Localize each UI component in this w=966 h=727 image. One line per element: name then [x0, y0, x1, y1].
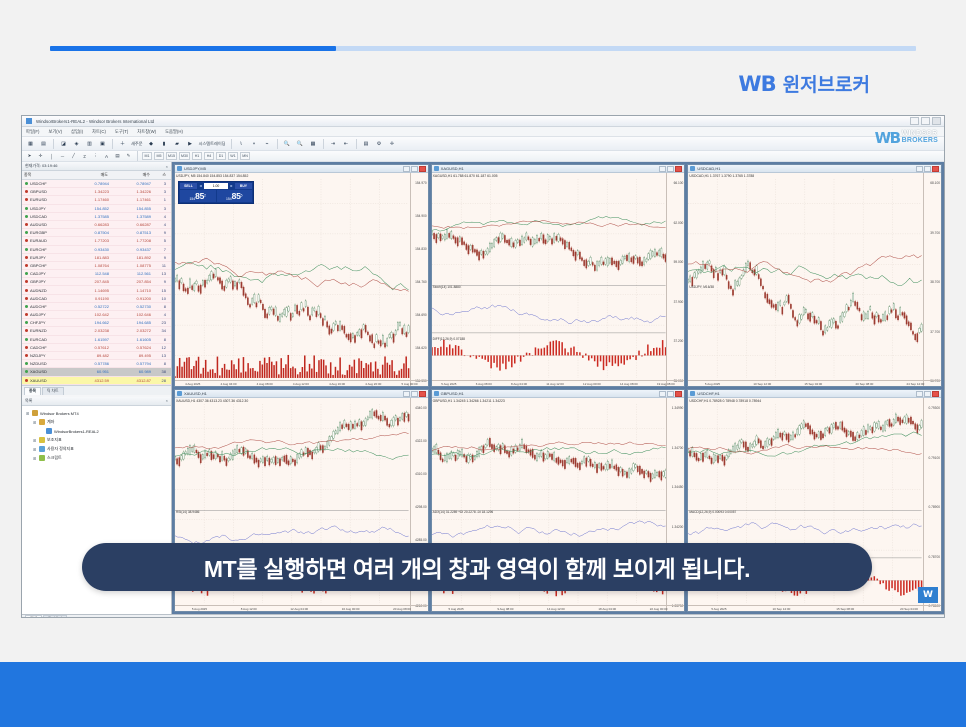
chart-canvas[interactable]: USDJPY, M5 154.840 154.853 154.837 154.8…: [175, 173, 428, 386]
market-watch-title: 현재가격: 03:19:46: [25, 163, 58, 169]
navigator-item[interactable]: ⊞스크립트: [26, 454, 171, 463]
chart-maximize-button[interactable]: [924, 166, 931, 172]
mt4-drawing-toolbar: ➤ ✛ │ ─ ╱ ≠ ⋮ A ▤ ✎ M1 M5 M15 M30 H1 H4 …: [22, 151, 944, 162]
row-spread: 13: [154, 271, 168, 276]
time-tick: 4 Aug 12:00: [293, 382, 309, 386]
sell-price[interactable]: 154852: [180, 190, 216, 202]
indicator-label: Stoch(14) 101.8880: [433, 285, 461, 289]
time-axis: 4 Aug 20254 Aug 04:004 Aug 08:004 Aug 12…: [175, 380, 428, 386]
chart-minimize-button[interactable]: [659, 391, 666, 397]
time-tick: 4 Aug 20:00: [365, 382, 381, 386]
toolbar-separator: [277, 139, 278, 149]
node-icon: [32, 410, 38, 416]
row-ask: 2.03272: [112, 328, 154, 333]
row-ask: 1.37589: [112, 214, 154, 219]
close-button[interactable]: [932, 117, 941, 125]
arrow-icon[interactable]: ✎: [124, 152, 133, 161]
price-axis: 154.970154.900154.830154.760154.690154.6…: [410, 173, 428, 386]
market-watch-row[interactable]: AUDCHF0.527220.527308: [22, 303, 171, 311]
column-ask[interactable]: 매수: [110, 172, 152, 178]
direction-icon: [25, 231, 28, 234]
grid-icon[interactable]: ▦: [308, 138, 319, 149]
chart-title-bar: USDCHF,H1: [688, 390, 941, 398]
market-watch-row[interactable]: CADJPY112.548112.56113: [22, 270, 171, 278]
time-tick: 16 Aug 00:00: [342, 607, 360, 611]
expander-icon[interactable]: ⊞: [26, 411, 30, 416]
row-spread: 1: [154, 197, 168, 202]
row-bid: 102.642: [70, 312, 112, 317]
time-tick: 20 Sep 08:00: [855, 382, 873, 386]
fibonacci-icon[interactable]: ⋮: [91, 152, 100, 161]
market-watch-row[interactable]: AUDUSD0.662830.662874: [22, 221, 171, 229]
time-tick: 6 Aug 08:00: [476, 382, 492, 386]
row-symbol: GBPJPY: [30, 279, 70, 284]
row-symbol: EURUSD: [30, 197, 70, 202]
lot-increase-icon[interactable]: ►: [229, 184, 234, 188]
menu-insert[interactable]: 삽입(I): [71, 129, 83, 135]
row-ask: 4312.87: [112, 378, 154, 383]
sell-button[interactable]: SELL: [180, 183, 197, 189]
market-watch-row[interactable]: CADCHF0.576120.5762412: [22, 344, 171, 352]
navigator-item[interactable]: WindsorBrokers1-REAL2: [26, 427, 171, 436]
chart-title: XAUUSD,H1: [184, 391, 207, 396]
market-watch-row[interactable]: EURCAD1.615971.616058: [22, 336, 171, 344]
minimize-button[interactable]: [910, 117, 919, 125]
menu-charts[interactable]: 차트(C): [92, 129, 106, 135]
row-spread: 10: [154, 296, 168, 301]
timeframe-h4[interactable]: H4: [204, 152, 214, 160]
row-bid: 60.951: [70, 369, 112, 374]
profiles-icon[interactable]: ▤: [38, 138, 49, 149]
market-watch-row[interactable]: AUDJPY102.642102.6464: [22, 311, 171, 319]
expander-icon[interactable]: ⊞: [33, 438, 37, 443]
row-symbol: AUDNZD: [30, 288, 70, 293]
chart-maximize-button[interactable]: [667, 391, 674, 397]
chart-close-button[interactable]: [419, 391, 426, 397]
indicators-icon[interactable]: ▮: [159, 138, 170, 149]
direction-icon: [25, 198, 28, 201]
timeframe-h1[interactable]: H1: [192, 152, 202, 160]
auto-scroll-icon[interactable]: ⇤: [341, 138, 352, 149]
row-symbol: EURAUD: [30, 238, 70, 243]
timeframe-m1[interactable]: M1: [142, 152, 152, 160]
zoom-out-icon[interactable]: 🔍: [295, 138, 306, 149]
time-axis: 5 Aug 202510 Sep 12:0015 Sep 04:0020 Sep…: [688, 380, 941, 386]
direction-icon: [25, 329, 28, 332]
direction-icon: [25, 239, 28, 242]
tab-tick-chart[interactable]: 틱 차트: [42, 387, 64, 395]
row-spread: 15: [154, 288, 168, 293]
row-symbol: EURNZD: [30, 328, 70, 333]
time-tick: 8 Aug 04:00: [511, 382, 527, 386]
row-ask: 0.78947: [112, 181, 154, 186]
new-order-icon[interactable]: ＋: [117, 138, 128, 149]
market-watch-icon[interactable]: ◪: [58, 138, 69, 149]
one-click-trading-panel[interactable]: SELL◄1.00►BUY154852154855: [178, 181, 254, 204]
navigator-item[interactable]: ⊞Windsor Brokers MT4: [26, 409, 171, 418]
price-axis: 68.10039.70038.70037.70036.700: [923, 173, 941, 386]
row-symbol: CADCHF: [30, 345, 70, 350]
time-tick: 15 Sep 08:00: [836, 607, 854, 611]
market-watch-row[interactable]: EURNZD2.032382.0327234: [22, 327, 171, 335]
price-tick: 154.690: [415, 313, 427, 317]
timeframe-m30[interactable]: M30: [179, 152, 190, 160]
row-ask: 1.08775: [112, 263, 154, 268]
market-watch-list[interactable]: USDCHF0.789440.789473GBPUSD1.342231.3422…: [22, 180, 171, 385]
expander-icon[interactable]: ⊞: [33, 456, 37, 461]
row-spread: 5: [154, 238, 168, 243]
toolbar-separator: [323, 139, 324, 149]
label-icon[interactable]: ▤: [113, 152, 122, 161]
lot-size-input[interactable]: 1.00: [204, 183, 228, 189]
row-symbol: AUDJPY: [30, 312, 70, 317]
time-tick: 4 Aug 16:00: [329, 382, 345, 386]
row-bid: 207.845: [70, 279, 112, 284]
row-bid: 1.08764: [70, 263, 112, 268]
row-spread: 38: [154, 369, 168, 374]
timeframe-w1[interactable]: W1: [228, 152, 238, 160]
row-spread: 34: [154, 328, 168, 333]
menu-window[interactable]: 차트창(W): [137, 129, 156, 135]
row-bid: 0.78944: [70, 181, 112, 186]
chart-minimize-button[interactable]: [916, 166, 923, 172]
vertical-line-icon[interactable]: │: [47, 152, 56, 161]
price-tick: 1.34700: [672, 446, 684, 450]
row-symbol: CHFJPY: [30, 320, 70, 325]
templates-icon[interactable]: ▤: [361, 138, 372, 149]
chart-icon: [690, 166, 695, 171]
row-bid: 0.66283: [70, 222, 112, 227]
time-tick: 5 Aug 2025: [705, 382, 720, 386]
indicator-label: MACD(12,26,9) 0.00093 0.00057: [689, 510, 736, 514]
direction-icon: [25, 182, 28, 185]
chart-title-bar: USDJPY,M5: [175, 165, 428, 173]
chart-title-bar: XAGUSD,H1: [432, 165, 685, 173]
navigator-item-label: 계좌: [47, 419, 54, 425]
time-tick: 12 Aug 04:00: [290, 607, 308, 611]
price-tick: 1.34200: [672, 525, 684, 529]
time-axis: 5 Aug 20259 Aug 08:0014 Aug 12:0018 Aug …: [432, 605, 685, 611]
row-bid: 1.61597: [70, 337, 112, 342]
window-controls: [910, 117, 941, 125]
chart-minimize-button[interactable]: [916, 391, 923, 397]
row-bid: 0.93430: [70, 247, 112, 252]
slide-progress-track: [50, 46, 916, 51]
timeframe-d1[interactable]: D1: [216, 152, 226, 160]
menu-help[interactable]: 도움말(H): [165, 129, 183, 135]
row-ask: 1.61605: [112, 337, 154, 342]
chart-close-button[interactable]: [675, 166, 682, 172]
row-ask: 0.93437: [112, 247, 154, 252]
chart-maximize-button[interactable]: [667, 166, 674, 172]
line-chart-icon[interactable]: ⌁: [262, 138, 273, 149]
menu-file[interactable]: 파일(F): [26, 129, 39, 135]
chart-canvas[interactable]: USDCAD,H1 1.3767 1.3790 1.3765 1.378868.…: [688, 173, 941, 386]
row-spread: 28: [154, 378, 168, 383]
chart-maximize-button[interactable]: [924, 391, 931, 397]
row-symbol: AUDCAD: [30, 296, 70, 301]
row-ask: 0.66287: [112, 222, 154, 227]
candlestick-icon[interactable]: ⑂: [249, 138, 260, 149]
new-chart-icon[interactable]: ▦: [25, 138, 36, 149]
crosshair-icon[interactable]: ✛: [36, 152, 45, 161]
chart-icon: [434, 391, 439, 396]
chart-minimize-button[interactable]: [403, 166, 410, 172]
mt4-main-toolbar: ▦ ▤ ◪ ◈ ▥ ▣ ＋ 새주문 ◆ ▮ ▰ ▶ 시스템트레이딩 ⑊ ⑂ ⌁ …: [22, 137, 944, 151]
horizontal-line-icon[interactable]: ─: [58, 152, 67, 161]
channel-icon[interactable]: ≠: [80, 152, 89, 161]
row-spread: 4: [154, 214, 168, 219]
row-symbol: USDCHF: [30, 181, 70, 186]
row-bid: 0.91190: [70, 296, 112, 301]
new-order-label[interactable]: 새주문: [130, 141, 144, 147]
row-symbol: USDJPY: [30, 206, 70, 211]
chart-close-button[interactable]: [419, 166, 426, 172]
price-tick: 4310.00: [415, 472, 427, 476]
market-watch-row[interactable]: AUDNZD1.146951.1471015: [22, 286, 171, 294]
indicator-label: DIFF(12,26,9) 0.07188: [433, 337, 465, 341]
menu-view[interactable]: 보기(V): [48, 129, 62, 135]
autotrading-label[interactable]: 시스템트레이딩: [198, 141, 227, 147]
market-watch-row[interactable]: CHFJPY194.662194.68523: [22, 319, 171, 327]
windsor-brokers-watermark: WB WINDSOR BROKERS: [875, 129, 938, 147]
expander-icon[interactable]: ⊞: [33, 420, 37, 425]
row-spread: 12: [154, 345, 168, 350]
timeframe-mn[interactable]: MN: [240, 152, 250, 160]
direction-icon: [25, 354, 28, 357]
price-axis: 66.10062.00059.00037.90037.20035.000: [666, 173, 684, 386]
column-symbol[interactable]: 종목: [22, 172, 68, 178]
row-bid: 1.77203: [70, 238, 112, 243]
expert-advisor-icon[interactable]: ◆: [146, 138, 157, 149]
market-watch-row[interactable]: GBPCHF1.087641.0877511: [22, 262, 171, 270]
node-icon: [39, 446, 45, 452]
chart-title-bar: XAUUSD,H1: [175, 390, 428, 398]
market-watch-row[interactable]: USDJPY154.852154.8553: [22, 205, 171, 213]
direction-icon: [25, 346, 28, 349]
row-bid: 0.52722: [70, 304, 112, 309]
price-tick: 4298.00: [415, 505, 427, 509]
market-watch-row[interactable]: AUDCAD0.911900.9120010: [22, 295, 171, 303]
time-tick: 20 Aug 08:00: [393, 607, 411, 611]
properties-icon[interactable]: ⚙: [374, 138, 385, 149]
chart-title: USDJPY,M5: [184, 166, 206, 171]
navigator-item-label: 스크립트: [47, 455, 62, 461]
timeframe-m5[interactable]: M5: [154, 152, 164, 160]
direction-icon: [25, 280, 28, 283]
chart-title: GBPUSD,H1: [441, 391, 464, 396]
row-bid: 0.57612: [70, 345, 112, 350]
chart-close-button[interactable]: [932, 166, 939, 172]
direction-icon: [25, 338, 28, 341]
direction-icon: [25, 297, 28, 300]
maximize-button[interactable]: [921, 117, 930, 125]
zoom-in-icon[interactable]: 🔍: [282, 138, 293, 149]
row-ask: 154.855: [112, 206, 154, 211]
price-tick: 39.700: [930, 231, 940, 235]
time-tick: 24 Sep 12:00: [907, 382, 925, 386]
market-watch-row[interactable]: USDCAD1.375851.375894: [22, 213, 171, 221]
time-tick: 4 Aug 2025: [185, 382, 200, 386]
terminal-icon[interactable]: ▣: [97, 138, 108, 149]
navigator-item[interactable]: ⊞사용자 정의지표: [26, 445, 171, 454]
market-watch-row[interactable]: XAUUSD4312.594312.8728: [22, 377, 171, 385]
row-ask: 0.87513: [112, 230, 154, 235]
cursor-icon[interactable]: ➤: [25, 152, 34, 161]
market-watch-row[interactable]: EURCHF0.934300.934377: [22, 246, 171, 254]
row-spread: 4: [154, 222, 168, 227]
row-bid: 112.548: [70, 271, 112, 276]
market-watch-row[interactable]: USDCHF0.789440.789473: [22, 180, 171, 188]
chart-close-button[interactable]: [675, 391, 682, 397]
price-tick: 37.200: [674, 339, 684, 343]
row-bid: 0.57786: [70, 361, 112, 366]
row-spread: 3: [154, 189, 168, 194]
expander-icon[interactable]: ⊞: [33, 447, 37, 452]
time-tick: 12 Aug 00:00: [583, 382, 601, 386]
direction-icon: [25, 289, 28, 292]
row-spread: 8: [154, 304, 168, 309]
strategy-tester-icon[interactable]: ▰: [172, 138, 183, 149]
market-watch-row[interactable]: EURGBP0.875040.875139: [22, 229, 171, 237]
time-tick: 5 Aug 2025: [441, 382, 456, 386]
node-icon: [46, 428, 52, 434]
direction-icon: [25, 248, 28, 251]
navigator-icon[interactable]: ▥: [84, 138, 95, 149]
market-watch-row[interactable]: NZDUSD0.577860.577948: [22, 360, 171, 368]
chart-window[interactable]: XAGUSD,H1XAGUSD,H1 61.788 61.870 61.187 …: [431, 164, 686, 387]
direction-icon: [25, 313, 28, 316]
caption-banner: MT를 실행하면 여러 개의 창과 영역이 함께 보이게 됩니다.: [82, 543, 872, 591]
chart-close-button[interactable]: [932, 391, 939, 397]
chart-window[interactable]: USDCAD,H1USDCAD,H1 1.3767 1.3790 1.3765 …: [687, 164, 942, 387]
buy-button[interactable]: BUY: [235, 183, 252, 189]
market-watch-row[interactable]: GBPJPY207.845207.8549: [22, 278, 171, 286]
tab-symbols[interactable]: 종목: [24, 387, 41, 395]
market-watch-row[interactable]: GBPUSD1.342231.342263: [22, 188, 171, 196]
chart-minimize-button[interactable]: [403, 391, 410, 397]
price-tick: 38.700: [930, 280, 940, 284]
crosshair-icon[interactable]: ✛: [387, 138, 398, 149]
chart-window[interactable]: USDJPY,M5USDJPY, M5 154.840 154.853 154.…: [174, 164, 429, 387]
close-icon[interactable]: ×: [166, 398, 168, 403]
tab-list[interactable]: 열거하기: [43, 615, 67, 618]
row-symbol: XAGUSD: [30, 369, 70, 374]
toolbar-separator: [356, 139, 357, 149]
indicator-label: RSI(14) 38.9486: [176, 510, 199, 514]
row-symbol: GBPCHF: [30, 263, 70, 268]
price-tick: 1.34450: [672, 485, 684, 489]
price-tick: 37.700: [930, 330, 940, 334]
row-symbol: NZDUSD: [30, 361, 70, 366]
trend-line-icon[interactable]: ╱: [69, 152, 78, 161]
market-watch-row[interactable]: EURJPY181.883181.8929: [22, 254, 171, 262]
row-ask: 1.34226: [112, 189, 154, 194]
market-watch-row[interactable]: XAGUSD60.95160.98938: [22, 368, 171, 376]
time-axis: 5 Aug 20256 Aug 08:008 Aug 04:0011 Aug 1…: [432, 380, 685, 386]
navigator-title: 목록: [25, 398, 32, 404]
row-symbol: EURGBP: [30, 230, 70, 235]
column-bid[interactable]: 매도: [68, 172, 110, 178]
row-ask: 89.495: [112, 353, 154, 358]
chart-shift-icon[interactable]: ⇥: [328, 138, 339, 149]
time-tick: 4 Aug 08:00: [257, 382, 273, 386]
price-tick: 1.34990: [672, 406, 684, 410]
column-spread[interactable]: 스: [152, 172, 168, 178]
bar-chart-icon[interactable]: ⑊: [236, 138, 247, 149]
chart-icon: [690, 391, 695, 396]
price-tick: 68.100: [930, 181, 940, 185]
tab-general[interactable]: 일반: [25, 615, 42, 618]
autotrading-icon[interactable]: ▶: [185, 138, 196, 149]
toolbar-separator: [231, 139, 232, 149]
chart-title: USDCHF,H1: [697, 391, 719, 396]
price-tick: 0.79100: [928, 456, 940, 460]
row-spread: 9: [154, 255, 168, 260]
windsor-corner-logo-icon: W: [918, 587, 938, 603]
navigator-item-label: 사용자 정의지표: [47, 446, 74, 452]
toolbar-separator: [53, 139, 54, 149]
time-tick: 15 Sep 04:00: [804, 382, 822, 386]
navigator-item[interactable]: ⊞계좌: [26, 418, 171, 427]
chart-maximize-button[interactable]: [411, 166, 418, 172]
mt4-menu-bar: 파일(F) 보기(V) 삽입(I) 차트(C) 도구(T) 차트창(W) 도움말…: [22, 127, 944, 137]
row-bid: 154.852: [70, 206, 112, 211]
timeframe-m15[interactable]: M15: [166, 152, 177, 160]
price-tick: 154.830: [415, 247, 427, 251]
price-tick: 154.760: [415, 280, 427, 284]
price-axis: 0.793000.791000.789000.787000.78500: [923, 398, 941, 611]
price-tick: 154.900: [415, 214, 427, 218]
chart-plot: [175, 173, 428, 386]
slide-root: WB 윈저브로커 WindsorBrokers1-REAL2 - Windsor…: [0, 0, 966, 727]
slide-footer-band: [0, 662, 966, 727]
time-axis: 5 Aug 20258 Aug 12:0012 Aug 04:0016 Aug …: [175, 605, 428, 611]
mt4-title-bar: WindsorBrokers1-REAL2 - Windsor Brokers …: [22, 116, 944, 127]
market-watch-row[interactable]: EURUSD1.174601.174611: [22, 196, 171, 204]
direction-icon: [25, 305, 28, 308]
row-bid: 1.34223: [70, 189, 112, 194]
row-symbol: USDCAD: [30, 214, 70, 219]
price-tick: 59.000: [674, 260, 684, 264]
market-watch-row[interactable]: NZDJPY89.48289.49513: [22, 352, 171, 360]
time-axis: 5 Aug 202510 Sep 12:0015 Sep 08:0020 Sep…: [688, 605, 941, 611]
time-tick: 20 Sep 04:00: [900, 607, 918, 611]
row-ask: 1.17461: [112, 197, 154, 202]
navigator-item[interactable]: ⊞보조지표: [26, 436, 171, 445]
time-tick: 4 Aug 04:00: [220, 382, 236, 386]
time-tick: 14 Aug 08:00: [620, 382, 638, 386]
direction-icon: [25, 190, 28, 193]
text-icon[interactable]: A: [102, 152, 111, 161]
row-spread: 3: [154, 206, 168, 211]
market-watch-row[interactable]: EURAUD1.772031.772085: [22, 237, 171, 245]
row-ask: 207.854: [112, 279, 154, 284]
price-tick: 154.620: [415, 346, 427, 350]
lot-decrease-icon[interactable]: ◄: [198, 184, 203, 188]
close-icon[interactable]: ×: [166, 164, 168, 169]
menu-tools[interactable]: 도구(T): [115, 129, 128, 135]
direction-icon: [25, 362, 28, 365]
data-window-icon[interactable]: ◈: [71, 138, 82, 149]
chart-minimize-button[interactable]: [659, 166, 666, 172]
buy-price[interactable]: 154855: [217, 190, 253, 202]
direction-icon: [25, 321, 28, 324]
chart-canvas[interactable]: XAGUSD,H1 61.788 61.870 61.187 61.00566.…: [432, 173, 685, 386]
navigator-item-label: Windsor Brokers MT4: [40, 411, 79, 416]
chart-maximize-button[interactable]: [411, 391, 418, 397]
time-tick: 5 Aug 2025: [448, 607, 463, 611]
